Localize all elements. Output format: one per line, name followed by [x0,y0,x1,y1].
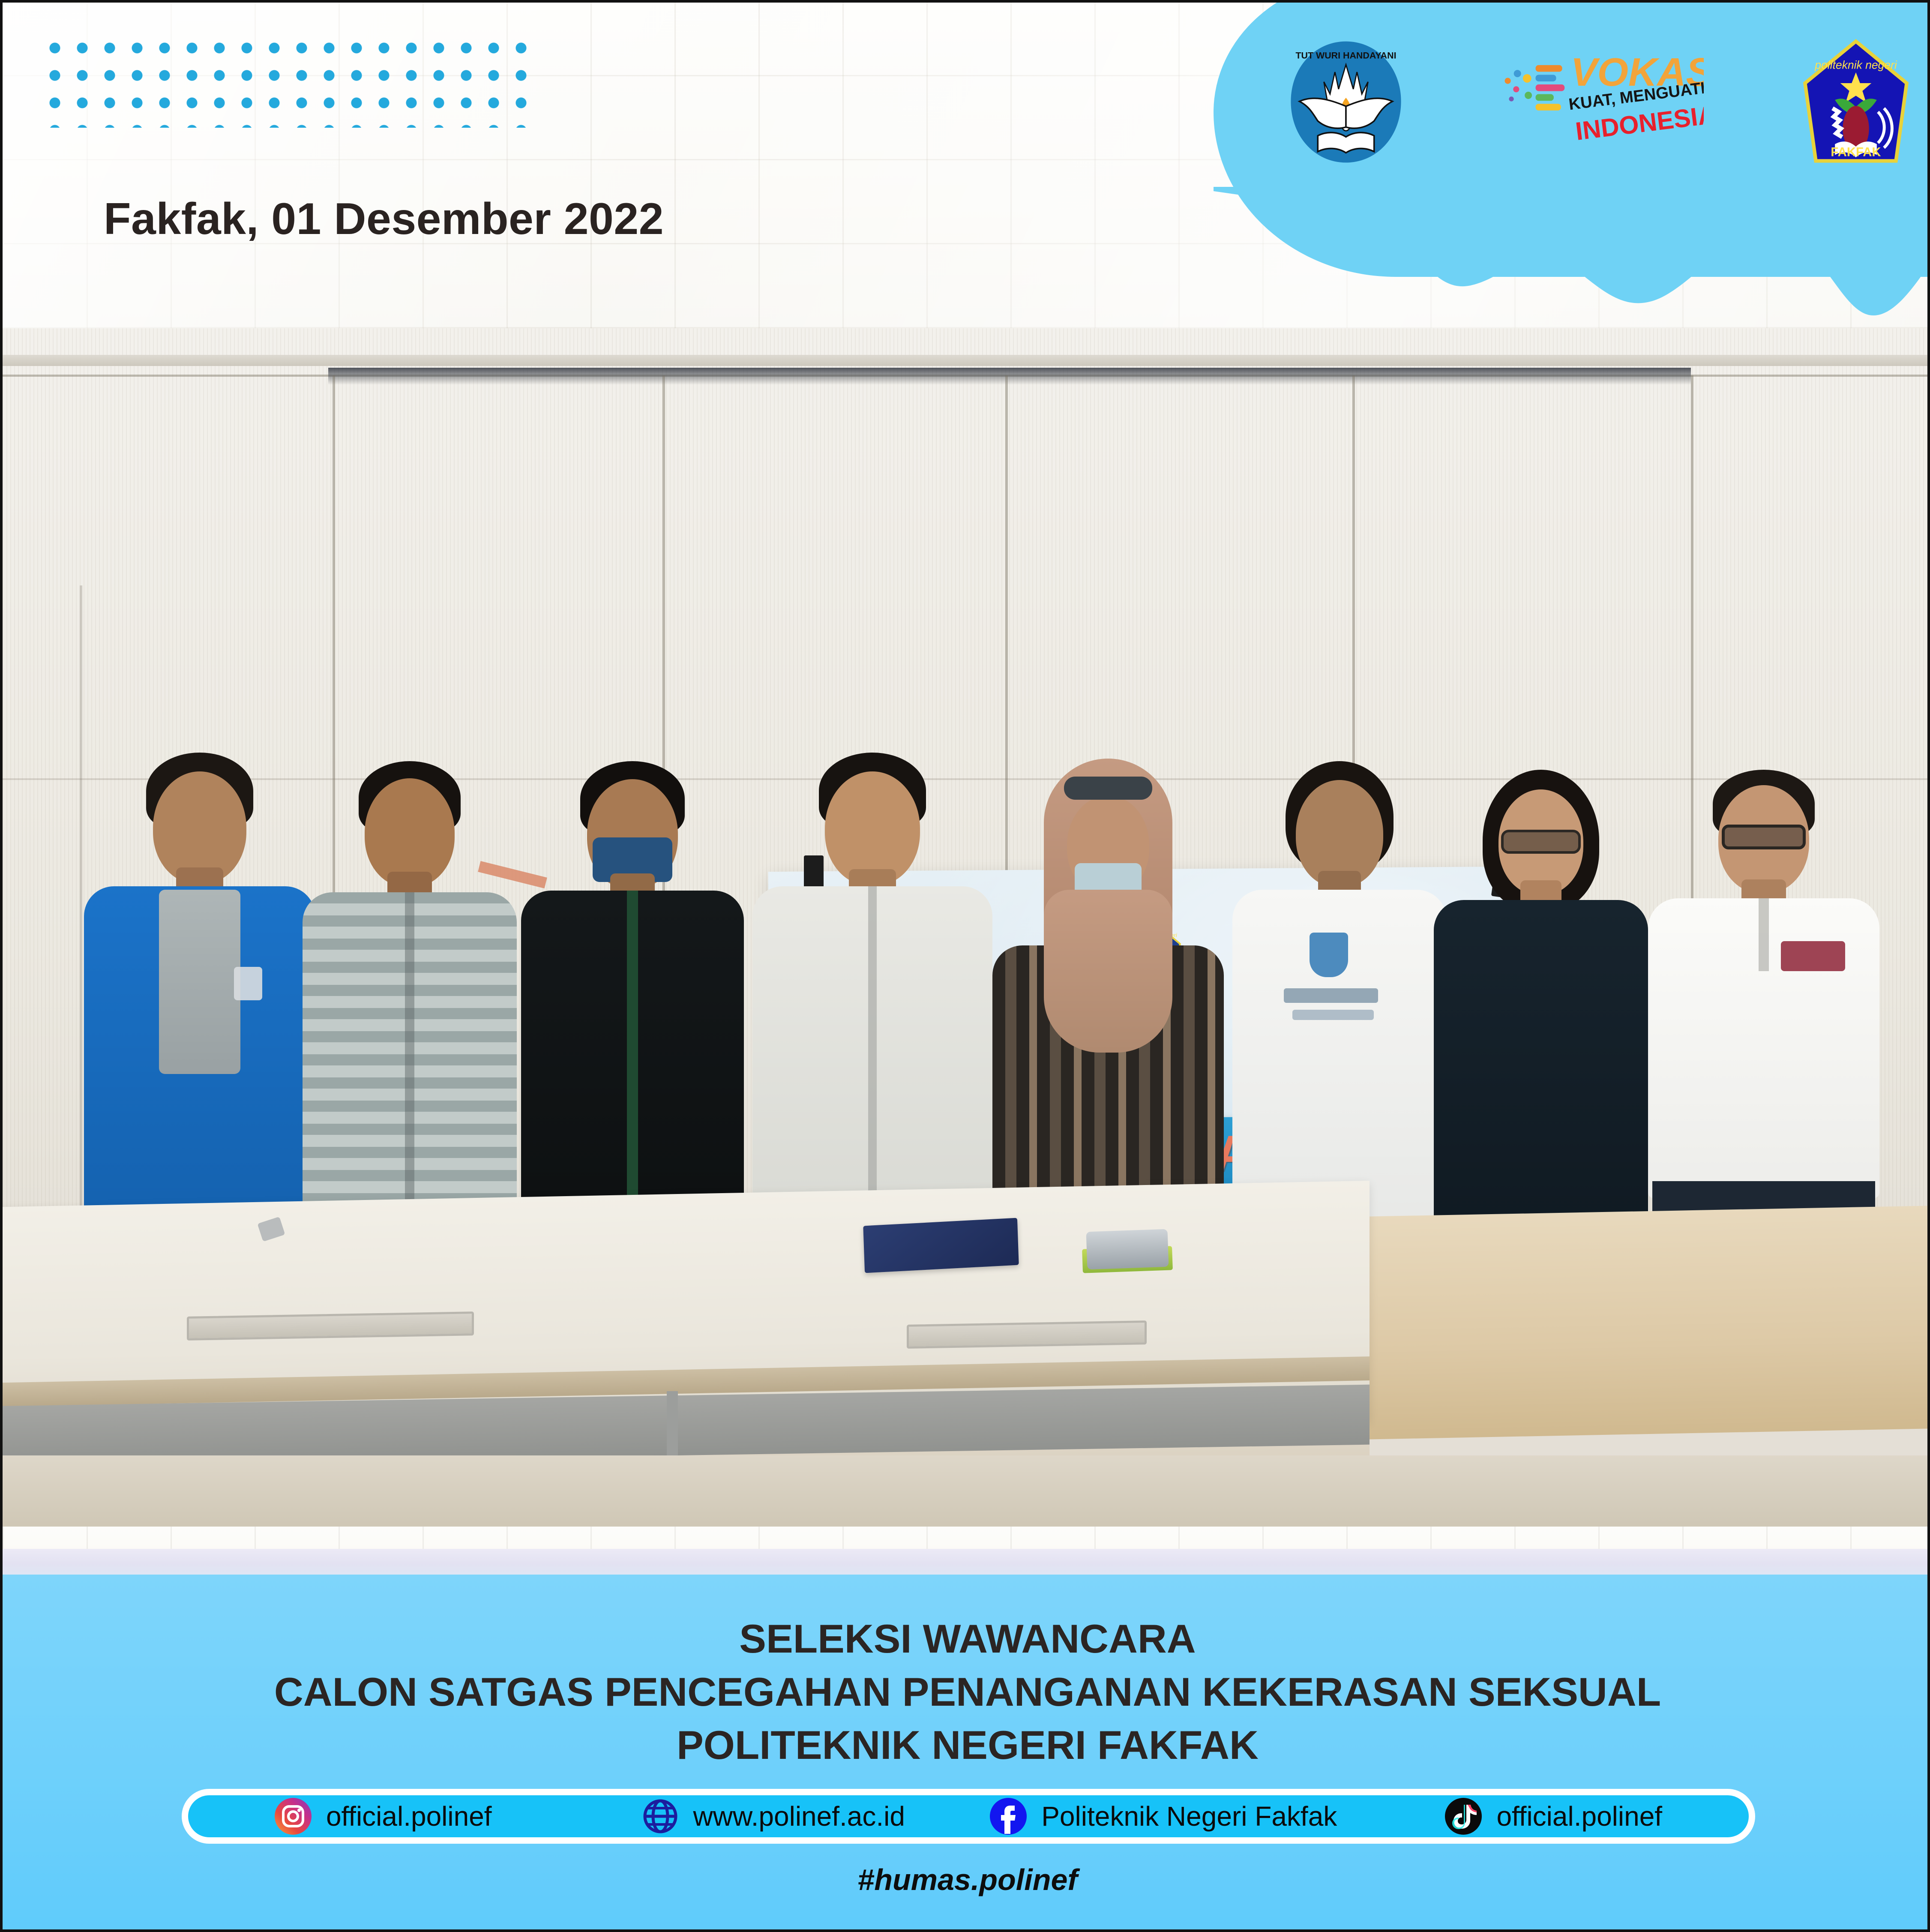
social-media-poster: Fakfak, 01 Desember 2022 TUT WURI HANDA [0,0,1930,1932]
instagram-icon[interactable] [275,1798,312,1835]
person-8 [1644,770,1884,1233]
person-8-shirt-logo [1781,941,1845,971]
header-blob-wave [1214,187,1930,328]
person-1-shirt [159,890,240,1074]
person-5-hijab-drape [1044,890,1172,1053]
social-item-website[interactable]: www.polinef.ac.id [578,1798,969,1835]
person-3 [517,761,748,1233]
person-1-badge [234,967,262,1000]
person-6-shirt-logo [1310,933,1348,977]
person-8-glasses [1722,825,1806,849]
person-6-shirt-subtext [1292,1010,1374,1020]
person-7-glasses [1501,830,1581,854]
polinef-logo: politeknik negeri FAKFAK [1794,38,1918,166]
vokasi-logo: VOKASI KUAT, MENGUATKAN INDONESIA [1498,38,1704,166]
person-1 [80,753,320,1233]
tiktok-icon-svg [1445,1798,1482,1835]
kemdikbud-logo-caption: TUT WURI HANDAYANI [1295,51,1396,61]
instagram-icon-svg [275,1798,312,1835]
footer-caption-line-3: POLITEKNIK NEGERI FAKFAK [3,1719,1930,1772]
person-8-placket [1759,898,1769,971]
person-4-placket [868,886,877,1234]
wave-shape [1214,187,1930,328]
social-item-tiktok[interactable]: official.polinef [1359,1798,1749,1835]
person-2-head [365,778,455,887]
social-item-facebook[interactable]: Politeknik Negeri Fakfak [968,1798,1359,1835]
kemdikbud-logo: TUT WURI HANDAYANI [1284,38,1408,166]
desk-cable-slot [907,1320,1147,1349]
white-divider-band [3,1527,1930,1551]
globe-icon-svg [642,1798,679,1835]
polinef-logo-sub: FAKFAK [1831,145,1881,159]
person-7-torso [1434,900,1648,1234]
kemdikbud-logo-svg: TUT WURI HANDAYANI [1284,38,1408,166]
ceiling-rail [3,355,1930,366]
vokasi-logo-svg: VOKASI KUAT, MENGUATKAN INDONESIA [1498,38,1704,166]
poster-header: Fakfak, 01 Desember 2022 TUT WURI HANDA [3,3,1930,328]
footer-caption-line-2: CALON SATGAS PENCEGAHAN PENANGANAN KEKER… [3,1665,1930,1719]
polinef-logo-svg: politeknik negeri FAKFAK [1794,38,1918,166]
website-url: www.polinef.ac.id [693,1800,905,1832]
lavender-divider-band [3,1549,1930,1575]
person-2 [298,761,521,1233]
person-6 [1228,761,1451,1233]
person-3-placket [627,891,638,1233]
footer-caption: SELEKSI WAWANCARA CALON SATGAS PENCEGAHA… [3,1612,1930,1772]
facebook-icon[interactable] [990,1798,1027,1835]
social-media-bar: official.polinef www.polinef.ac.id [182,1789,1755,1844]
poster-footer: SELEKSI WAWANCARA CALON SATGAS PENCEGAHA… [3,1575,1930,1932]
event-photo: politeknik negeri FAKFAK SELEKSI WAWANCA… [3,328,1930,1528]
person-1-head [153,771,246,884]
social-item-instagram[interactable]: official.polinef [188,1798,578,1835]
facebook-page-name: Politeknik Negeri Fakfak [1041,1800,1337,1832]
dot-matrix-decoration [49,42,529,128]
wooden-desk [1344,1205,1930,1440]
person-6-shirt-text [1284,988,1378,1003]
person-5 [988,761,1228,1233]
footer-caption-line-1: SELEKSI WAWANCARA [3,1612,1930,1665]
person-4 [748,753,997,1233]
desk-phone [1086,1229,1169,1270]
footer-hashtag: #humas.polinef [3,1863,1930,1897]
polinef-logo-caption: politeknik negeri [1814,59,1897,72]
person-4-head [825,771,920,885]
floor [3,1455,1930,1528]
instagram-handle: official.polinef [326,1800,492,1832]
person-2-placket [405,892,414,1235]
person-5-glasses [1064,777,1152,800]
tiktok-icon[interactable] [1445,1798,1482,1835]
person-7 [1430,770,1652,1233]
tiktok-handle: official.polinef [1496,1800,1662,1832]
header-date: Fakfak, 01 Desember 2022 [104,191,1132,247]
cabinet-shadow [328,368,1691,385]
desk-folder [863,1218,1019,1273]
hashtag-text: #humas.polinef [857,1863,1077,1896]
facebook-icon-svg [990,1798,1027,1835]
header-logo-row: TUT WURI HANDAYANI VOKAS [1284,21,1918,183]
desk-cable-slot [187,1311,474,1341]
header-date-text: Fakfak, 01 Desember 2022 [104,194,664,245]
globe-icon[interactable] [642,1798,679,1835]
